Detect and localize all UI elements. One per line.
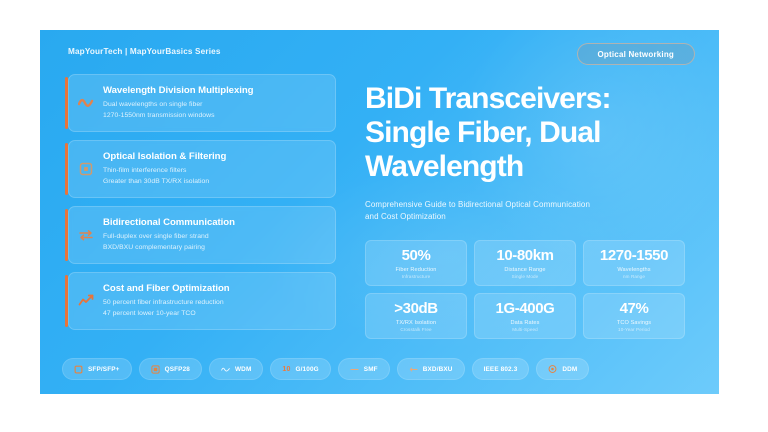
feature-line-2: Greater than 30dB TX/RX isolation: [103, 177, 325, 188]
headline-line-1: BiDi Transceivers:: [365, 82, 685, 116]
tag-chip[interactable]: BXD/BXU: [397, 358, 465, 380]
trending-up-icon: [78, 293, 94, 309]
feature-card[interactable]: Optical Isolation & Filtering Thin-film …: [68, 140, 336, 198]
accent-bar: [65, 143, 68, 195]
stat-label: Distance Range: [479, 267, 571, 273]
filter-square-icon: [78, 161, 94, 177]
feature-title: Bidirectional Communication: [103, 217, 325, 228]
tag-label: DDM: [562, 366, 577, 373]
feature-card-list: Wavelength Division Multiplexing Dual wa…: [68, 74, 336, 330]
headline-line-2: Single Fiber, Dual: [365, 116, 685, 150]
feature-line-1: Dual wavelengths on single fiber: [103, 100, 325, 111]
feature-card[interactable]: Wavelength Division Multiplexing Dual wa…: [68, 74, 336, 132]
stat-card[interactable]: 47% TCO Savings 10-Year Period: [583, 293, 685, 339]
tag-label: WDM: [235, 366, 251, 373]
feature-title: Optical Isolation & Filtering: [103, 151, 325, 162]
tag-label: BXD/BXU: [423, 366, 453, 373]
stat-card[interactable]: 1G-400G Data Rates Multi-Speed: [474, 293, 576, 339]
screenshot-canvas: MapYourTech | MapYourBasics Series Optic…: [0, 0, 768, 432]
tag-chip[interactable]: IEEE 802.3: [472, 358, 530, 380]
stat-value: 1270-1550: [588, 248, 680, 264]
tag-prefix: 10: [282, 366, 290, 373]
tag-chip[interactable]: DDM: [536, 358, 589, 380]
feature-title: Wavelength Division Multiplexing: [103, 85, 325, 96]
presentation-slide: MapYourTech | MapYourBasics Series Optic…: [40, 30, 719, 394]
feature-line-1: Thin-film interference filters: [103, 166, 325, 177]
dash-icon: [350, 365, 359, 374]
square-filled-icon: [151, 365, 160, 374]
feature-title: Cost and Fiber Optimization: [103, 283, 325, 294]
stat-sublabel: Infrastructure: [370, 274, 462, 279]
feature-line-2: 47 percent lower 10-year TCO: [103, 309, 325, 320]
arrow-bidir-icon: [409, 365, 418, 374]
tag-chip[interactable]: QSFP28: [139, 358, 202, 380]
circle-dot-icon: [548, 365, 557, 374]
feature-line-2: 1270-1550nm transmission windows: [103, 111, 325, 122]
tag-label: IEEE 802.3: [484, 366, 518, 373]
feature-line-1: 50 percent fiber infrastructure reductio…: [103, 298, 325, 309]
tag-label: QSFP28: [165, 366, 190, 373]
main-content: BiDi Transceivers: Single Fiber, Dual Wa…: [365, 82, 685, 339]
subtitle: Comprehensive Guide to Bidirectional Opt…: [365, 199, 595, 225]
tag-bar: SFP/SFP+ QSFP28 WDM: [62, 358, 702, 380]
stat-card[interactable]: 1270-1550 Wavelengths nm Range: [583, 240, 685, 286]
stat-sublabel: nm Range: [588, 274, 680, 279]
tag-label: SFP/SFP+: [88, 366, 120, 373]
square-outline-icon: [74, 365, 83, 374]
wave-icon: [221, 365, 230, 374]
stat-label: Fiber Reduction: [370, 267, 462, 273]
feature-line-1: Full-duplex over single fiber strand: [103, 232, 325, 243]
tag-label: SMF: [364, 366, 378, 373]
stat-label: Data Rates: [479, 320, 571, 326]
stat-card[interactable]: >30dB TX/RX Isolation Crosstalk Free: [365, 293, 467, 339]
tag-chip[interactable]: SFP/SFP+: [62, 358, 132, 380]
stat-value: >30dB: [370, 301, 462, 317]
feature-line-2: BXD/BXU complementary pairing: [103, 243, 325, 254]
stat-label: Wavelengths: [588, 267, 680, 273]
stat-sublabel: Multi-Speed: [479, 327, 571, 332]
stat-card[interactable]: 50% Fiber Reduction Infrastructure: [365, 240, 467, 286]
stat-label: TX/RX Isolation: [370, 320, 462, 326]
accent-bar: [65, 209, 68, 261]
tag-chip[interactable]: WDM: [209, 358, 263, 380]
stat-value: 47%: [588, 301, 680, 317]
stat-value: 1G-400G: [479, 301, 571, 317]
page-title: BiDi Transceivers: Single Fiber, Dual Wa…: [365, 82, 685, 185]
tag-text: WDM: [235, 366, 251, 373]
accent-bar: [65, 275, 68, 327]
brand-label: MapYourTech | MapYourBasics Series: [68, 47, 221, 56]
stat-sublabel: Crosstalk Free: [370, 327, 462, 332]
wave-icon: [78, 95, 94, 111]
stat-label: TCO Savings: [588, 320, 680, 326]
category-badge[interactable]: Optical Networking: [577, 43, 696, 65]
stat-sublabel: Single Mode: [479, 274, 571, 279]
tag-label: G/100G: [296, 366, 319, 373]
headline-line-3: Wavelength: [365, 150, 685, 184]
stat-value: 10-80km: [479, 248, 571, 264]
bidirectional-arrows-icon: [78, 227, 94, 243]
tag-chip[interactable]: SMF: [338, 358, 390, 380]
feature-card[interactable]: Bidirectional Communication Full-duplex …: [68, 206, 336, 264]
accent-bar: [65, 77, 68, 129]
stat-card[interactable]: 10-80km Distance Range Single Mode: [474, 240, 576, 286]
tag-chip[interactable]: 10 G/100G: [270, 358, 330, 380]
stat-sublabel: 10-Year Period: [588, 327, 680, 332]
stats-grid: 50% Fiber Reduction Infrastructure 10-80…: [365, 240, 685, 339]
stat-value: 50%: [370, 248, 462, 264]
feature-card[interactable]: Cost and Fiber Optimization 50 percent f…: [68, 272, 336, 330]
